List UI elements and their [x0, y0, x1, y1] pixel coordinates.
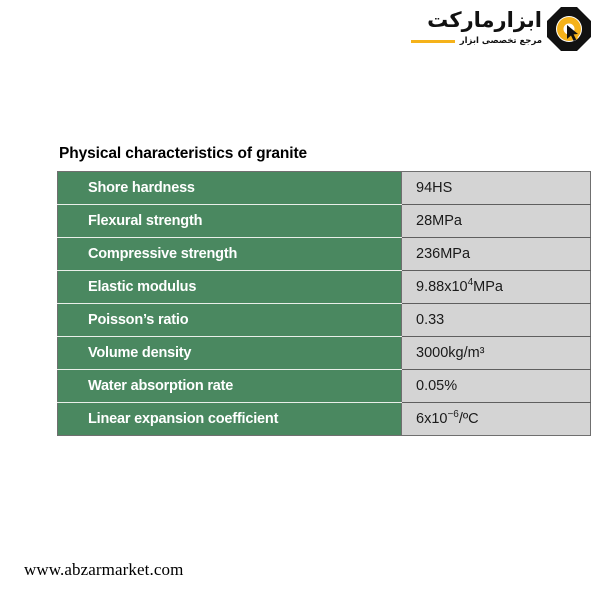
property-label: Elastic modulus [58, 271, 402, 304]
property-value: 6x10−6/ºC [402, 403, 591, 436]
value-text: 3000kg/m³ [416, 345, 485, 361]
value-exponent: −6 [447, 409, 458, 420]
site-logo[interactable]: ابزارمارکت مرجع تخصصی ابزار [411, 6, 592, 68]
value-text: 9.88x10 [416, 279, 468, 295]
granite-properties-table: Shore hardness 94HS Flexural strength 28… [57, 171, 591, 436]
spec-table-block: Physical characteristics of granite Shor… [57, 145, 534, 436]
value-unit: MPa [473, 279, 503, 295]
brand-tagline-row: مرجع تخصصی ابزار [411, 37, 542, 46]
property-label: Compressive strength [58, 238, 402, 271]
value-text: 0.33 [416, 312, 444, 328]
property-value: 28MPa [402, 205, 591, 238]
property-label: Shore hardness [58, 172, 402, 205]
property-label: Flexural strength [58, 205, 402, 238]
site-url[interactable]: www.abzarmarket.com [24, 560, 183, 580]
property-value: 94HS [402, 172, 591, 205]
value-text: 28MPa [416, 213, 462, 229]
property-value: 0.33 [402, 304, 591, 337]
property-label: Volume density [58, 337, 402, 370]
value-unit: /ºC [459, 411, 479, 427]
value-text: 94HS [416, 180, 452, 196]
table-row: Poisson’s ratio 0.33 [58, 304, 591, 337]
table-row: Elastic modulus 9.88x104MPa [58, 271, 591, 304]
table-row: Linear expansion coefficient 6x10−6/ºC [58, 403, 591, 436]
property-value: 3000kg/m³ [402, 337, 591, 370]
value-text: 236MPa [416, 246, 470, 262]
property-value: 236MPa [402, 238, 591, 271]
property-label: Poisson’s ratio [58, 304, 402, 337]
property-value: 9.88x104MPa [402, 271, 591, 304]
table-row: Water absorption rate 0.05% [58, 370, 591, 403]
brand-name: ابزارمارکت [427, 10, 542, 31]
table-row: Volume density 3000kg/m³ [58, 337, 591, 370]
table-row: Shore hardness 94HS [58, 172, 591, 205]
brand-tagline: مرجع تخصصی ابزار [460, 37, 542, 46]
value-text: 0.05% [416, 378, 457, 394]
table-row: Compressive strength 236MPa [58, 238, 591, 271]
logo-text-block: ابزارمارکت مرجع تخصصی ابزار [411, 6, 542, 46]
accent-rule [411, 40, 455, 43]
page-title: Physical characteristics of granite [59, 145, 534, 162]
property-value: 0.05% [402, 370, 591, 403]
property-label: Linear expansion coefficient [58, 403, 402, 436]
value-text: 6x10 [416, 411, 447, 427]
table-row: Flexural strength 28MPa [58, 205, 591, 238]
octagon-q-cursor-logo-icon [546, 6, 592, 52]
table-body: Shore hardness 94HS Flexural strength 28… [58, 172, 591, 436]
property-label: Water absorption rate [58, 370, 402, 403]
